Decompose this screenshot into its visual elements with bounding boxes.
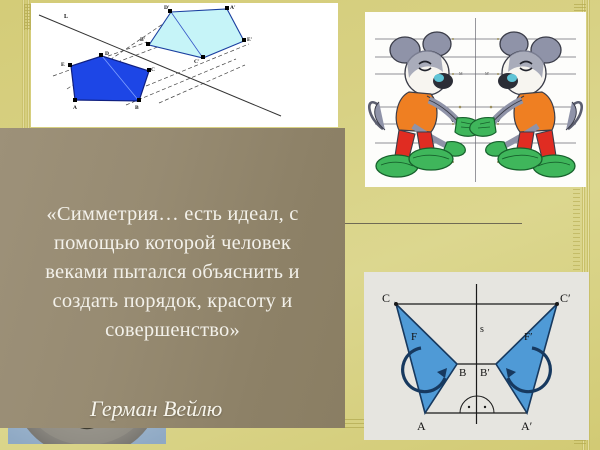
svg-text:M: M — [459, 71, 463, 76]
svg-text:A': A' — [230, 5, 236, 11]
quote-line-2: помощью которой человек — [6, 229, 339, 258]
svg-text:A′: A′ — [521, 419, 533, 433]
svg-text:B: B — [135, 105, 139, 111]
svg-text:D: D — [105, 51, 109, 57]
svg-text:C': C' — [194, 59, 200, 65]
svg-text:A: A — [73, 105, 77, 111]
svg-text:M': M' — [485, 71, 490, 76]
triangle-reflection-figure: s C C′ F F′ B B′ — [364, 272, 589, 440]
quote-author: Герман Вейлю — [90, 396, 360, 422]
svg-text:E: E — [61, 62, 65, 68]
svg-text:s: s — [480, 324, 484, 335]
svg-text:F′: F′ — [524, 331, 533, 343]
quote-line-5: совершенство» — [6, 316, 339, 345]
quote-line-4: создать порядок, красоту и — [6, 287, 339, 316]
quote-line-1: «Симметрия… есть идеал, с — [6, 200, 339, 229]
presentation-slide: L D'A' E'C' B' — [0, 0, 600, 450]
svg-text:L: L — [64, 14, 68, 20]
mirror-mouse-figure: MM' — [365, 12, 586, 187]
svg-text:B′: B′ — [480, 367, 490, 379]
svg-text:C: C — [382, 291, 390, 305]
svg-text:F: F — [411, 331, 417, 343]
svg-text:A: A — [417, 419, 426, 433]
pentagon-reflection-figure: L D'A' E'C' B' — [31, 3, 338, 127]
svg-text:D': D' — [164, 5, 170, 11]
quote-underline-rule — [345, 223, 522, 224]
svg-text:B: B — [459, 367, 466, 379]
quote-text: «Симметрия… есть идеал, с помощью которо… — [0, 200, 345, 345]
right-border-ornament-inner — [573, 185, 580, 270]
svg-text:B': B' — [140, 37, 146, 43]
svg-text:C: C — [151, 67, 155, 73]
quote-line-3: веками пытался объяснить и — [6, 258, 339, 287]
svg-text:C′: C′ — [560, 291, 571, 305]
svg-text:E': E' — [247, 37, 253, 43]
